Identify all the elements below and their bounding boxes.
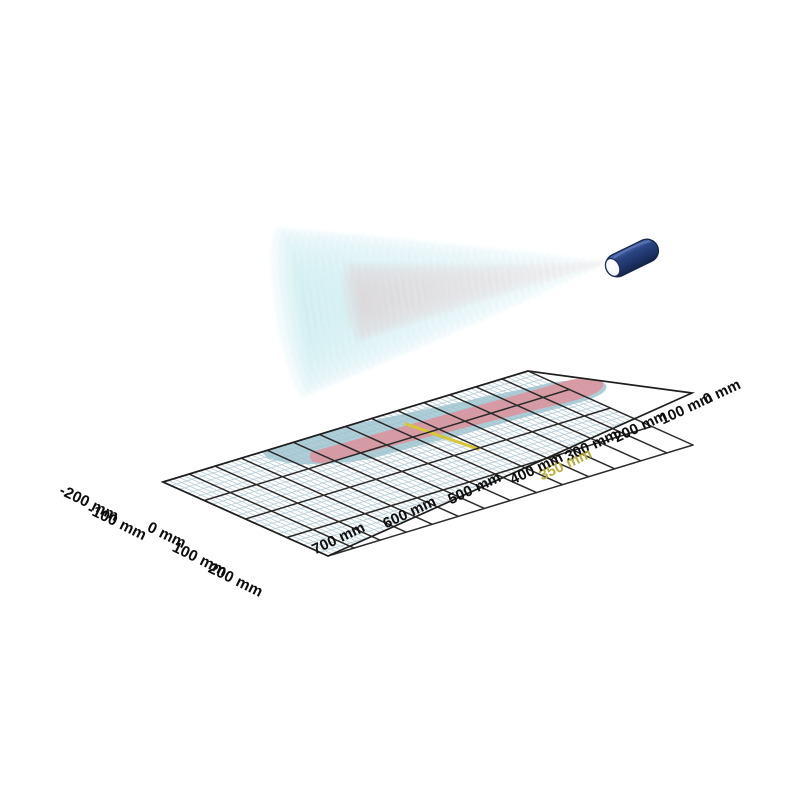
- inner-beam-core: [338, 260, 604, 343]
- ultrasound-probe[interactable]: [602, 235, 663, 280]
- figure-canvas: 0 mm100 mm200 mm300 mm350 mm400 mm500 mm…: [0, 0, 800, 800]
- beam-profile-scene: [0, 0, 800, 800]
- ground-grid-plane: [163, 371, 693, 556]
- beam-volume-group: [263, 225, 604, 400]
